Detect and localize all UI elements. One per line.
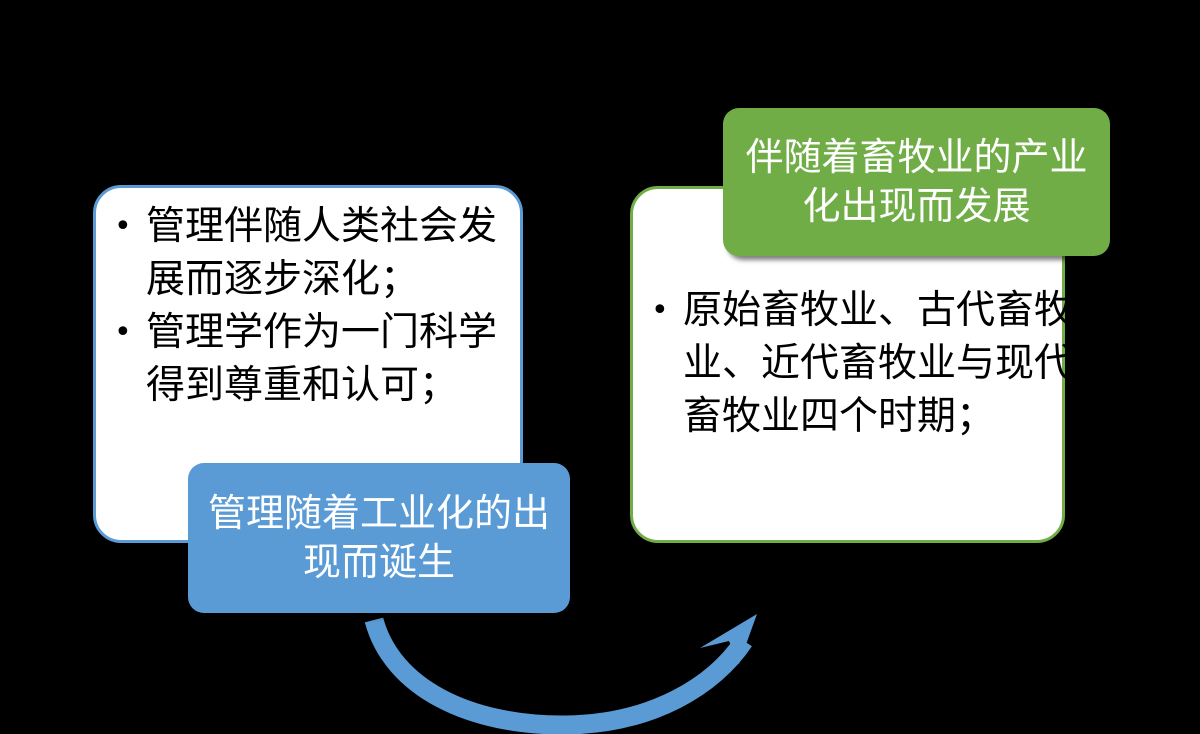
blue-callout-banner: 管理随着工业化的出现而诞生	[188, 463, 570, 613]
slide-canvas: • 管理伴随人类社会发展而逐步深化； • 管理学作为一门科学得到尊重和认可； •…	[0, 0, 1200, 734]
list-item: • 管理学作为一门科学得到尊重和认可；	[110, 306, 534, 412]
list-item-label: 管理伴随人类社会发展而逐步深化；	[146, 200, 534, 306]
list-item-label: 原始畜牧业、古代畜牧业、近代畜牧业与现代畜牧业四个时期；	[683, 284, 1076, 443]
blue-callout-label: 管理随着工业化的出现而诞生	[196, 489, 562, 587]
left-card-bullet-list: • 管理伴随人类社会发展而逐步深化； • 管理学作为一门科学得到尊重和认可；	[96, 188, 548, 412]
bullet-dot-icon: •	[110, 306, 146, 359]
bullet-dot-icon: •	[647, 284, 683, 337]
list-item-label: 管理学作为一门科学得到尊重和认可；	[146, 306, 534, 412]
green-callout-label: 伴随着畜牧业的产业化出现而发展	[731, 133, 1102, 231]
list-item: • 管理伴随人类社会发展而逐步深化；	[110, 200, 534, 306]
list-item: • 原始畜牧业、古代畜牧业、近代畜牧业与现代畜牧业四个时期；	[647, 284, 1076, 443]
green-callout-banner: 伴随着畜牧业的产业化出现而发展	[723, 108, 1110, 256]
bullet-dot-icon: •	[110, 200, 146, 253]
